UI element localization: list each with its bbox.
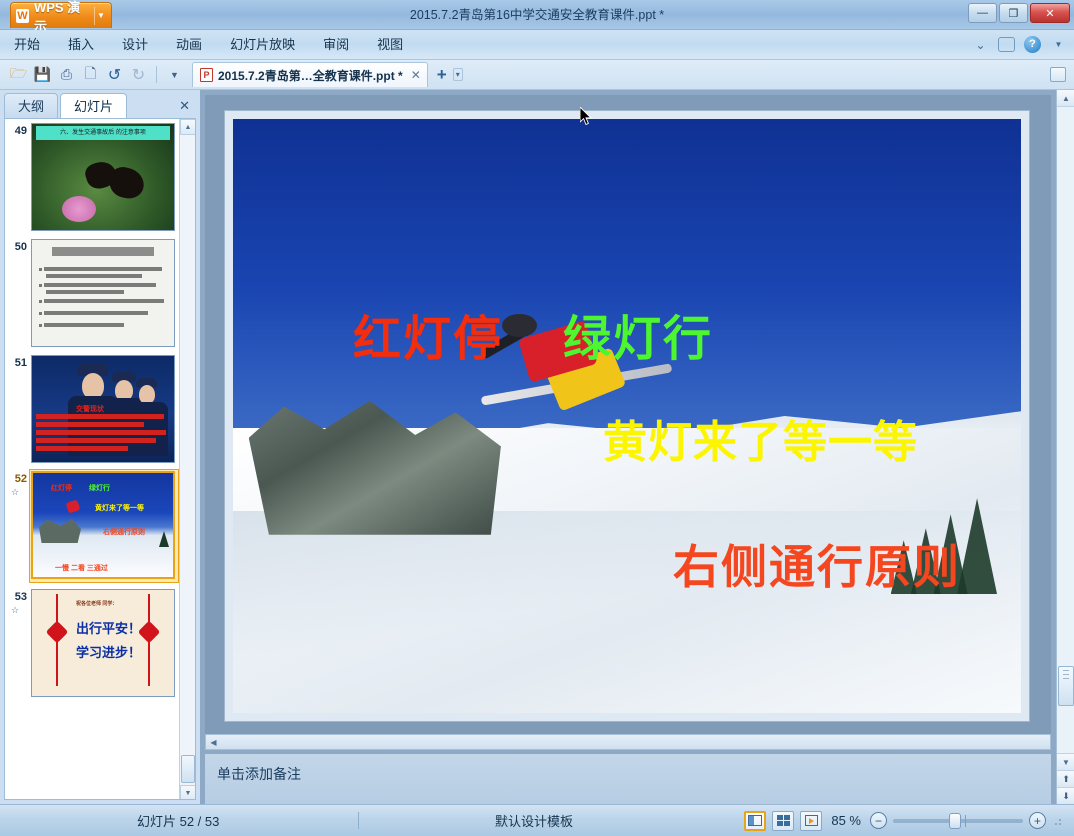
print-icon[interactable]: ⎙ [56,64,77,85]
scroll-up-icon[interactable]: ▲ [180,119,196,135]
thumbnail-line2-53: 学习进步！ [76,642,141,661]
view-sorter-button[interactable] [772,811,794,831]
status-bar: 幻灯片 52 / 53 默认设计模板 85 % − + [0,804,1074,836]
scroll-down-icon[interactable]: ▼ [1057,753,1074,770]
toolbar-divider [156,66,157,83]
skin-icon[interactable] [997,35,1016,54]
thumbnail-item-50[interactable]: 50 [9,239,175,351]
thumbnail-preview[interactable]: 六、发生交通事故后 的注意事项 [31,123,175,231]
view-slideshow-button[interactable] [800,811,822,831]
current-slide[interactable]: 红灯停 绿灯行 黄灯来了等一等 右侧通行原则 一慢 二看 三通过 （图例） [233,119,1021,713]
slide-frame[interactable]: 红灯停 绿灯行 黄灯来了等一等 右侧通行原则 一慢 二看 三通过 （图例） [224,110,1030,722]
save-icon[interactable]: 💾 [32,64,53,85]
thumbnail-preview[interactable]: 交警现状 [31,355,175,463]
mini-rocks [39,517,81,543]
horizontal-scrollbar[interactable]: ◀ [205,734,1051,750]
thumbnail-number: 51 [9,357,27,369]
ribbon-toggle-icon[interactable] [1050,67,1066,82]
slide-navigator-panel: 大纲 幻灯片 ✕ 49 六、发生交通事故后 的注意事项 [0,90,200,804]
scrollbar-thumb[interactable] [1058,666,1074,706]
document-tab[interactable]: P 2015.7.2青岛第…全教育课件.ppt * ✕ [192,62,428,87]
text-red-light-stop[interactable]: 红灯停 [353,299,503,369]
thumbnail-number: 50 [9,241,27,253]
zoom-out-button[interactable]: − [870,812,887,829]
wps-presentation-window: 2015.7.2青岛第16中学交通安全教育课件.ppt * W WPS 演示 ▼… [0,0,1074,836]
menu-item-start[interactable]: 开始 [0,32,54,58]
minimize-icon: — [977,7,988,19]
menu-bar: 开始 插入 设计 动画 幻灯片放映 审阅 视图 ⌄ ? ▼ [0,30,1074,60]
mini-skier [66,499,81,513]
tab-slides[interactable]: 幻灯片 [60,93,127,118]
thumbnail-item-53[interactable]: 53 ☆ 祝各位老师 同学： 出行平安！ 学习进步！ [9,589,175,703]
thumbnail-number: 53 [9,591,27,603]
thumbnail-subtitle-53: 祝各位老师 同学： [76,600,117,607]
close-panel-icon[interactable]: ✕ [179,98,190,114]
mini-red-light-stop: 红灯停 [51,483,72,493]
quick-access-toolbar: 🗁 💾 ⎙ 🗋 ↺ ↻ ▼ P 2015.7.2青岛第…全教育课件.ppt * … [0,60,1074,90]
scroll-down-icon[interactable]: ▼ [180,785,196,800]
menu-item-insert[interactable]: 插入 [54,32,108,58]
menu-item-view[interactable]: 视图 [363,32,417,58]
dropdown-caret-icon[interactable]: ▼ [1049,35,1068,54]
title-bar: 2015.7.2青岛第16中学交通安全教育课件.ppt * W WPS 演示 ▼… [0,0,1074,30]
thumbnail-line1-53: 出行平安！ [76,618,141,637]
new-tab-caret-icon[interactable]: ▾ [453,68,463,81]
zoom-slider-tick [965,815,966,827]
close-document-icon[interactable]: ✕ [411,68,421,82]
thumbnail-number: 49 [9,125,27,137]
menu-item-design[interactable]: 设计 [108,32,162,58]
thumbnail-item-49[interactable]: 49 六、发生交通事故后 的注意事项 [9,123,175,235]
previous-slide-button[interactable]: ⬆ [1057,770,1074,787]
menu-item-animation[interactable]: 动画 [162,32,216,58]
scroll-left-icon[interactable]: ◀ [206,735,221,749]
thumbnail-title-50 [42,247,164,256]
text-keep-right-rule[interactable]: 右侧通行原则 [673,531,961,597]
close-icon: ✕ [1045,7,1054,20]
notes-pane[interactable]: 单击添加备注 [205,754,1051,804]
navigator-tabs: 大纲 幻灯片 ✕ [0,90,200,118]
mini-slow-look-pass: 一慢 二看 三通过 [55,563,108,573]
tab-outline[interactable]: 大纲 [4,93,58,118]
view-normal-button[interactable] [744,811,766,831]
window-title: 2015.7.2青岛第16中学交通安全教育课件.ppt * [0,0,1074,30]
slide-canvas-wrapper: 红灯停 绿灯行 黄灯来了等一等 右侧通行原则 一慢 二看 三通过 （图例） [205,95,1051,750]
window-controls: — ❐ ✕ [968,3,1070,23]
thumbnail-list: 49 六、发生交通事故后 的注意事项 [4,118,196,800]
slide-counter: 幻灯片 52 / 53 [137,811,219,830]
vertical-scrollbar[interactable]: ▲ ▼ ⬆ ⬇ [1056,90,1074,804]
slide-sorter-icon [777,815,790,826]
notes-placeholder[interactable]: 单击添加备注 [213,758,1047,798]
scroll-up-icon[interactable]: ▲ [1057,90,1074,107]
menu-item-slideshow[interactable]: 幻灯片放映 [216,32,309,58]
restore-button[interactable]: ❐ [999,3,1028,23]
menu-item-review[interactable]: 审阅 [309,32,363,58]
zoom-level-label: 85 % [831,813,861,828]
chevron-down-icon[interactable]: ⌄ [971,35,990,54]
open-icon[interactable]: 🗁 [8,64,29,85]
thumbnail-title-49: 六、发生交通事故后 的注意事项 [36,126,170,140]
slideshow-play-icon [805,815,818,826]
thumbnail-number: 52 [9,473,27,485]
mini-green-light-go: 绿灯行 [89,483,110,493]
undo-icon[interactable]: ↺ [104,64,125,85]
mini-yellow-light-wait: 黄灯来了等一等 [95,503,144,513]
close-button[interactable]: ✕ [1030,3,1070,23]
resize-grip-icon[interactable] [1054,816,1064,826]
mouse-cursor [580,107,592,126]
thumbnail-scrollbar[interactable]: ▲ ▼ [179,119,195,800]
minimize-button[interactable]: — [968,3,997,23]
chevron-down-icon[interactable]: ▼ [94,7,107,25]
redo-icon[interactable]: ↻ [128,64,149,85]
butterfly-shape [84,158,146,204]
thumbnail-item-52[interactable]: 52 ☆ 红灯停 绿灯行 黄灯来了等一等 右侧通行原则 一慢 二看 三通过 [9,471,175,585]
animation-star-icon: ☆ [11,605,19,616]
thumbnail-item-51[interactable]: 51 交警现状 [9,355,175,467]
thumbnails-container: 49 六、发生交通事故后 的注意事项 [5,119,180,799]
customize-toolbar-icon[interactable]: ▼ [164,64,185,85]
restore-icon: ❐ [1009,7,1019,20]
thumbnail-preview[interactable] [31,239,175,347]
help-icon[interactable]: ? [1023,35,1042,54]
menu-right-icons: ⌄ ? ▼ [971,35,1068,54]
slide-editor-area: 红灯停 绿灯行 黄灯来了等一等 右侧通行原则 一慢 二看 三通过 （图例） ◀ … [200,90,1074,804]
text-green-light-go[interactable]: 绿灯行 [563,299,713,369]
text-yellow-light-wait[interactable]: 黄灯来了等一等 [603,406,918,470]
status-divider [358,812,359,829]
design-template-label[interactable]: 默认设计模板 [495,811,573,830]
document-tab-label: 2015.7.2青岛第…全教育课件.ppt * [218,67,403,84]
thumbnail-title-51: 交警现状 [76,404,104,414]
normal-view-icon [748,815,762,826]
next-slide-button[interactable]: ⬇ [1057,787,1074,804]
wps-logo-icon: W [16,9,29,23]
scrollbar-thumb[interactable] [181,755,195,783]
zoom-slider-thumb[interactable] [949,813,961,829]
thumbnail-preview[interactable]: 祝各位老师 同学： 出行平安！ 学习进步！ [31,589,175,697]
zoom-slider[interactable] [893,819,1023,823]
thumbnail-preview[interactable]: 红灯停 绿灯行 黄灯来了等一等 右侧通行原则 一慢 二看 三通过 [31,471,175,579]
wps-app-tab[interactable]: W WPS 演示 ▼ [10,2,112,28]
status-right-controls: 85 % − + [744,811,1064,831]
print-preview-icon[interactable]: 🗋 [80,64,101,85]
zoom-in-button[interactable]: + [1029,812,1046,829]
mini-tree [159,531,169,547]
mini-keep-right-rule: 右侧通行原则 [103,527,145,537]
new-tab-button[interactable]: + [437,65,447,85]
animation-star-icon: ☆ [11,487,19,498]
presentation-file-icon: P [200,68,213,82]
